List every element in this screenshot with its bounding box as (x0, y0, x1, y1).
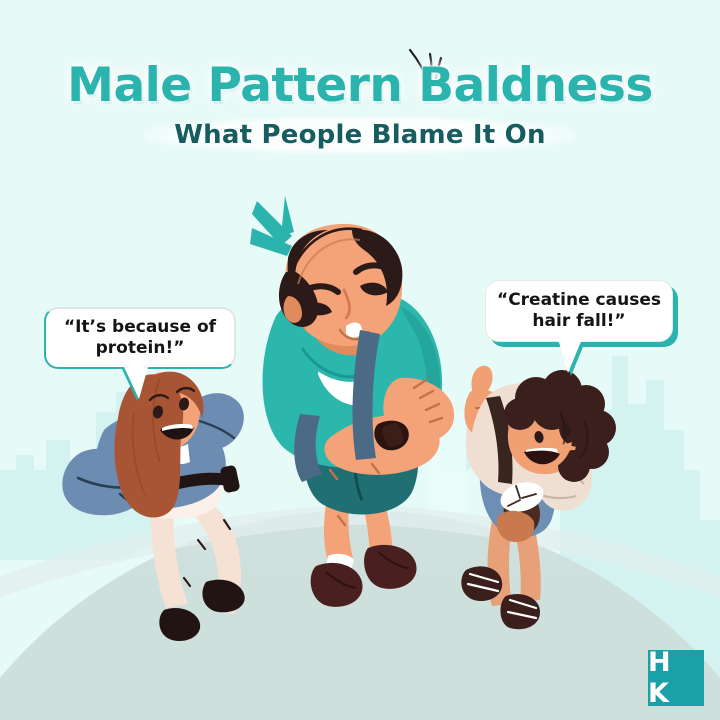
brand-logo-text: H K (648, 647, 704, 709)
subtitle-halo: What People Blame It On (144, 116, 575, 154)
speech-bubble-left-text: “It’s because of protein!” (46, 317, 234, 358)
subtitle-block: What People Blame It On (0, 116, 720, 154)
poster-canvas: Male Pattern Baldness What People Blame … (0, 0, 720, 720)
speech-bubble-right-tail (558, 339, 582, 373)
speech-bubble-right: “Creatine causes hair fall!” (485, 280, 673, 342)
speech-bubble-right-text: “Creatine causes hair fall!” (486, 290, 672, 331)
page-subtitle: What People Blame It On (174, 120, 545, 150)
speech-bubble-left: “It’s because of protein!” (44, 307, 236, 369)
speech-bubble-left-tail (124, 367, 148, 399)
brand-logo: H K (648, 650, 704, 706)
